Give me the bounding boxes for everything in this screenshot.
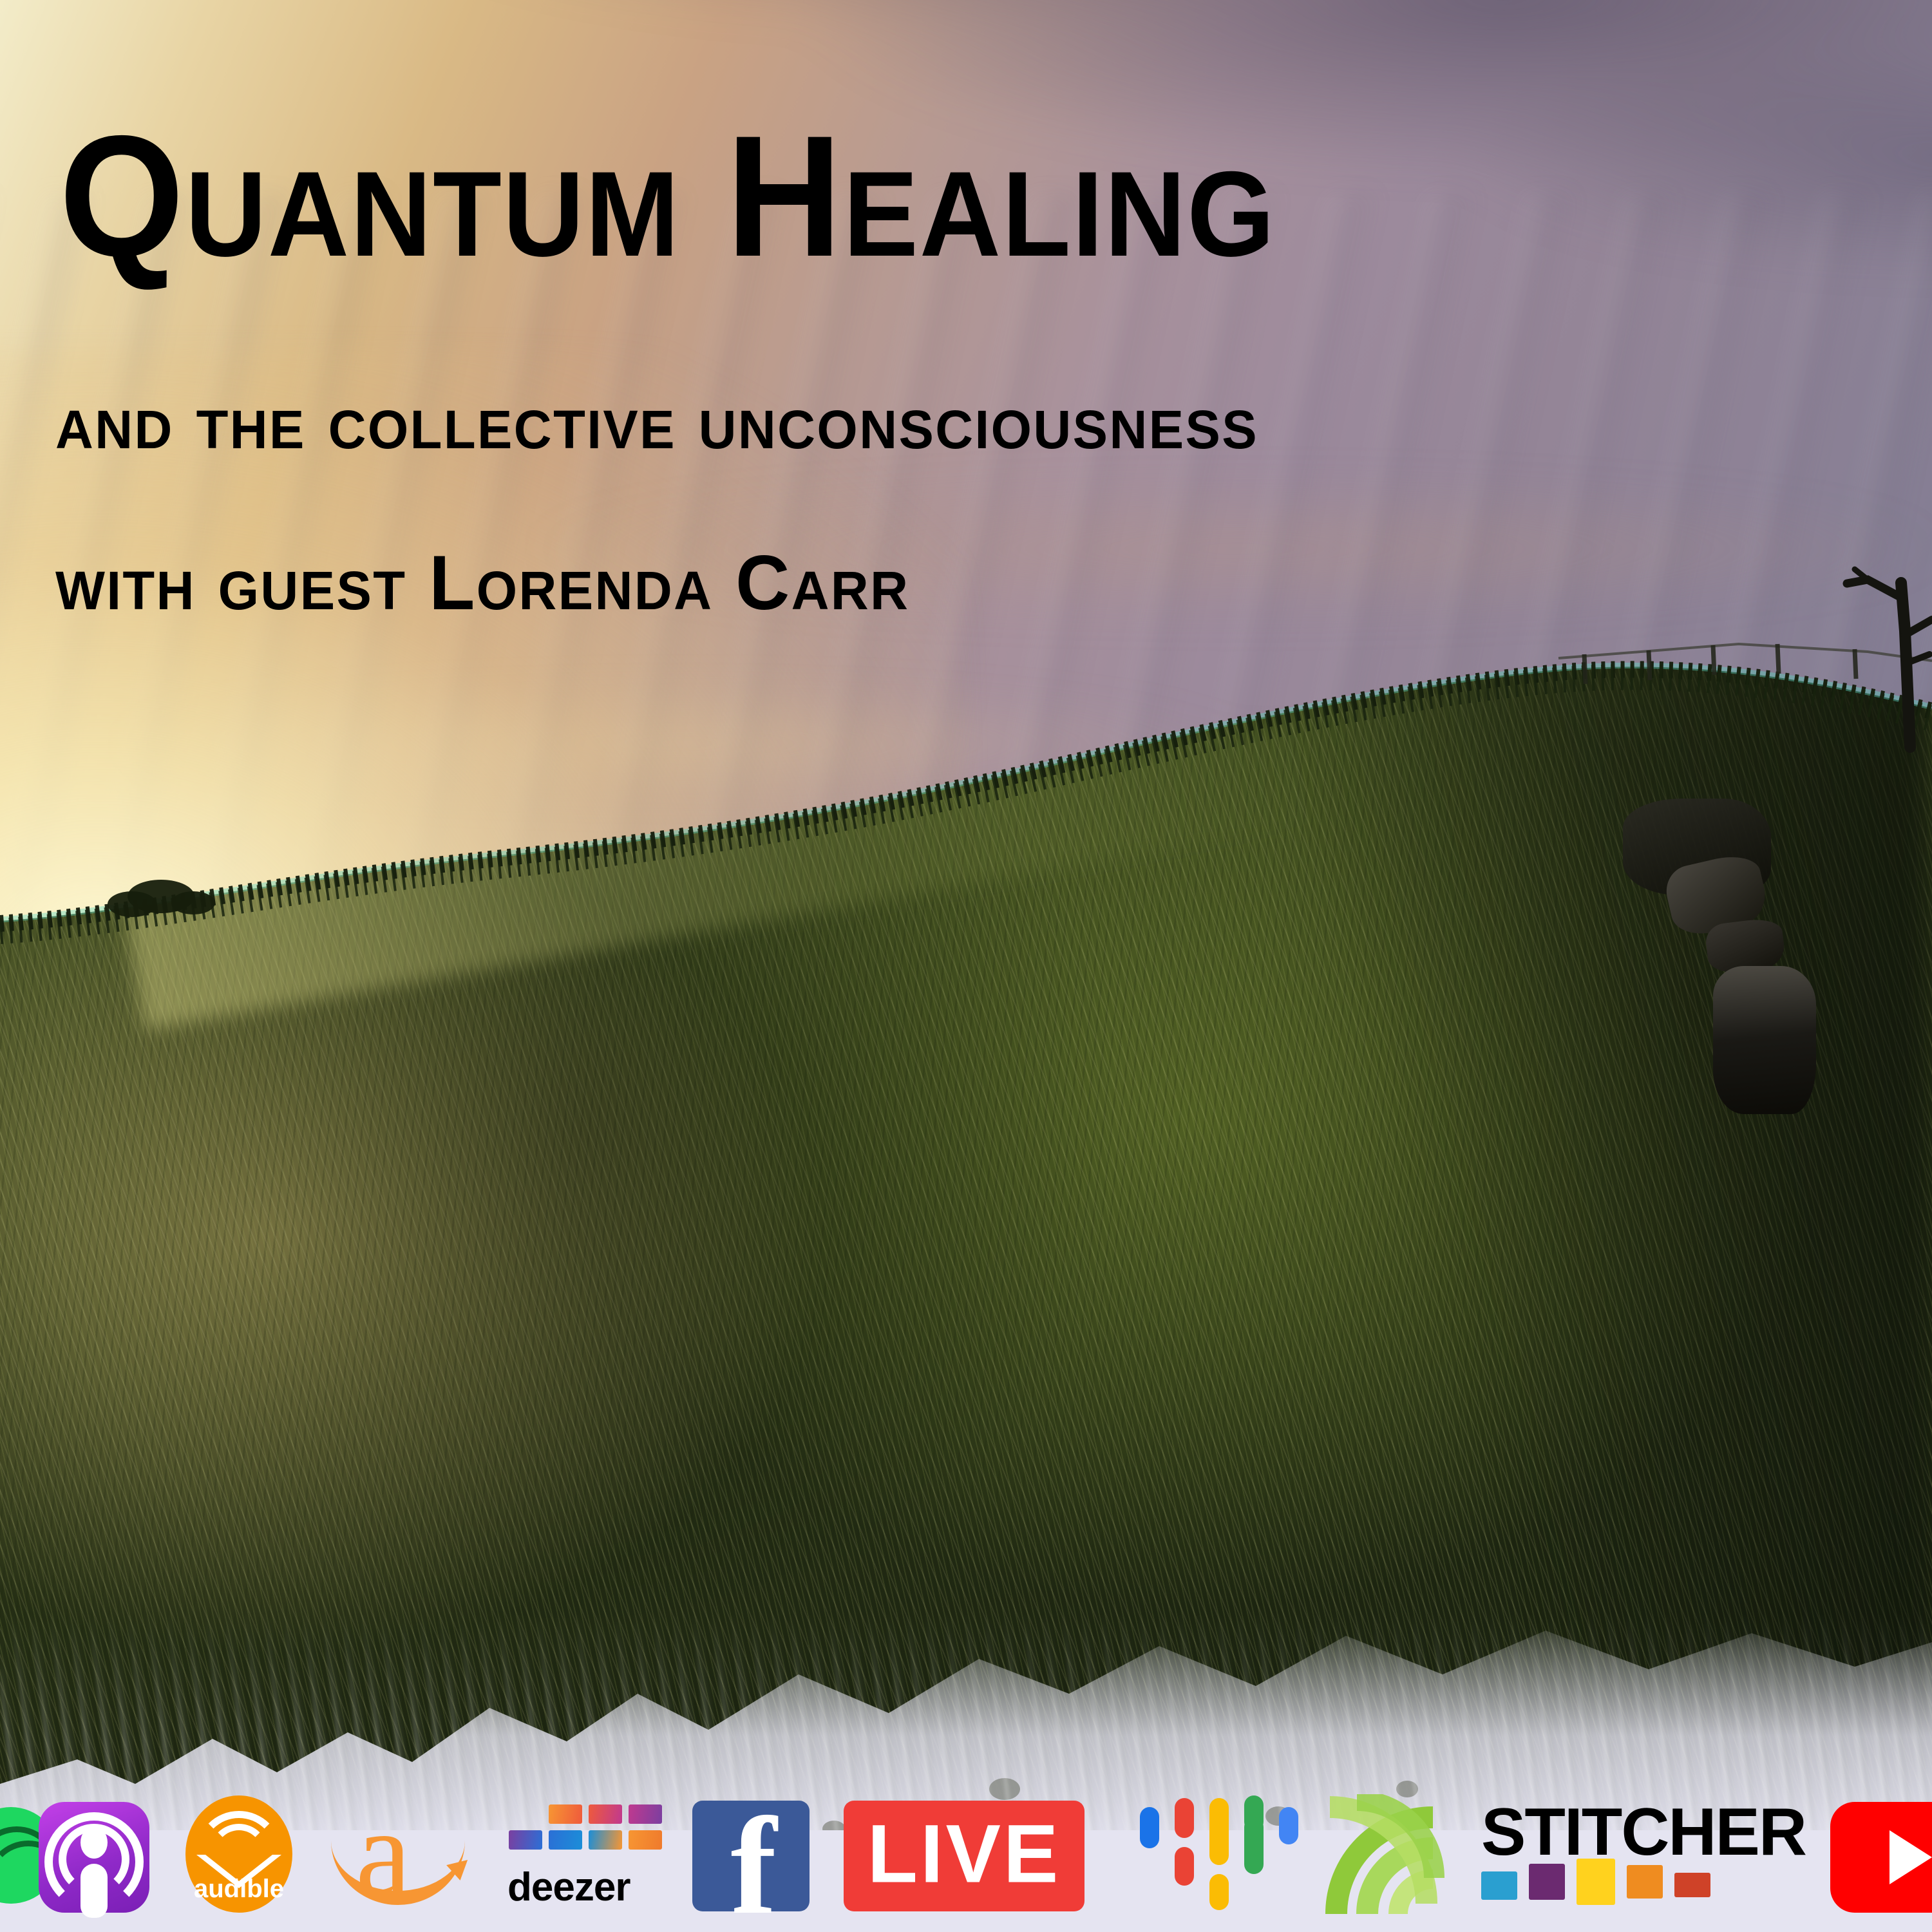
title-block: Quantum Healing and the collective uncon… — [0, 0, 1932, 1932]
deezer-cell — [549, 1830, 582, 1850]
live-label: LIVE — [844, 1807, 1084, 1902]
deezer-cell — [549, 1804, 582, 1824]
audible-label: audible — [185, 1875, 292, 1904]
google-bar — [1175, 1798, 1194, 1838]
facebook-f-letter: f — [730, 1797, 777, 1932]
stitcher-square — [1529, 1864, 1565, 1900]
youtube-icon[interactable] — [1830, 1802, 1932, 1913]
deezer-cell — [629, 1804, 662, 1824]
facebook-icon[interactable]: f — [692, 1801, 810, 1911]
google-bar — [1244, 1817, 1264, 1874]
page-title: Quantum Healing — [59, 113, 1276, 279]
stitcher-square — [1577, 1859, 1615, 1905]
deezer-label: deezer — [507, 1864, 630, 1910]
stitcher-square — [1674, 1873, 1710, 1897]
deezer-cell — [589, 1804, 622, 1824]
stitcher-icon[interactable]: STITCHER — [1481, 1797, 1758, 1910]
live-badge[interactable]: LIVE — [844, 1801, 1084, 1911]
google-bar — [1175, 1847, 1194, 1886]
deezer-cell — [629, 1830, 662, 1850]
google-bar — [1279, 1807, 1298, 1844]
google-bar — [1209, 1798, 1229, 1865]
deezer-cell — [509, 1830, 542, 1850]
google-bar — [1209, 1874, 1229, 1910]
amazon-smile — [331, 1841, 465, 1905]
apple-podcasts-icon[interactable] — [39, 1802, 149, 1913]
google-podcasts-icon[interactable] — [1140, 1798, 1302, 1911]
podcast-cover-art: Quantum Healing and the collective uncon… — [0, 0, 1932, 1932]
deezer-cell — [589, 1830, 622, 1850]
platform-logo-strip: audible a deezer f LIVE — [0, 1735, 1932, 1928]
stitcher-square — [1481, 1871, 1517, 1900]
amazon-icon[interactable]: a — [322, 1794, 474, 1914]
google-bar — [1140, 1807, 1159, 1848]
play-triangle-icon — [1889, 1830, 1932, 1884]
guest-credit-line: with guest Lorenda Carr — [55, 544, 909, 621]
deezer-icon[interactable]: deezer — [509, 1801, 677, 1910]
stitcher-label: STITCHER — [1481, 1794, 1806, 1871]
podbean-icon[interactable] — [1317, 1794, 1472, 1914]
page-subtitle: and the collective unconsciousness — [55, 383, 1258, 460]
audible-icon[interactable]: audible — [185, 1795, 292, 1913]
stitcher-square — [1627, 1865, 1663, 1899]
